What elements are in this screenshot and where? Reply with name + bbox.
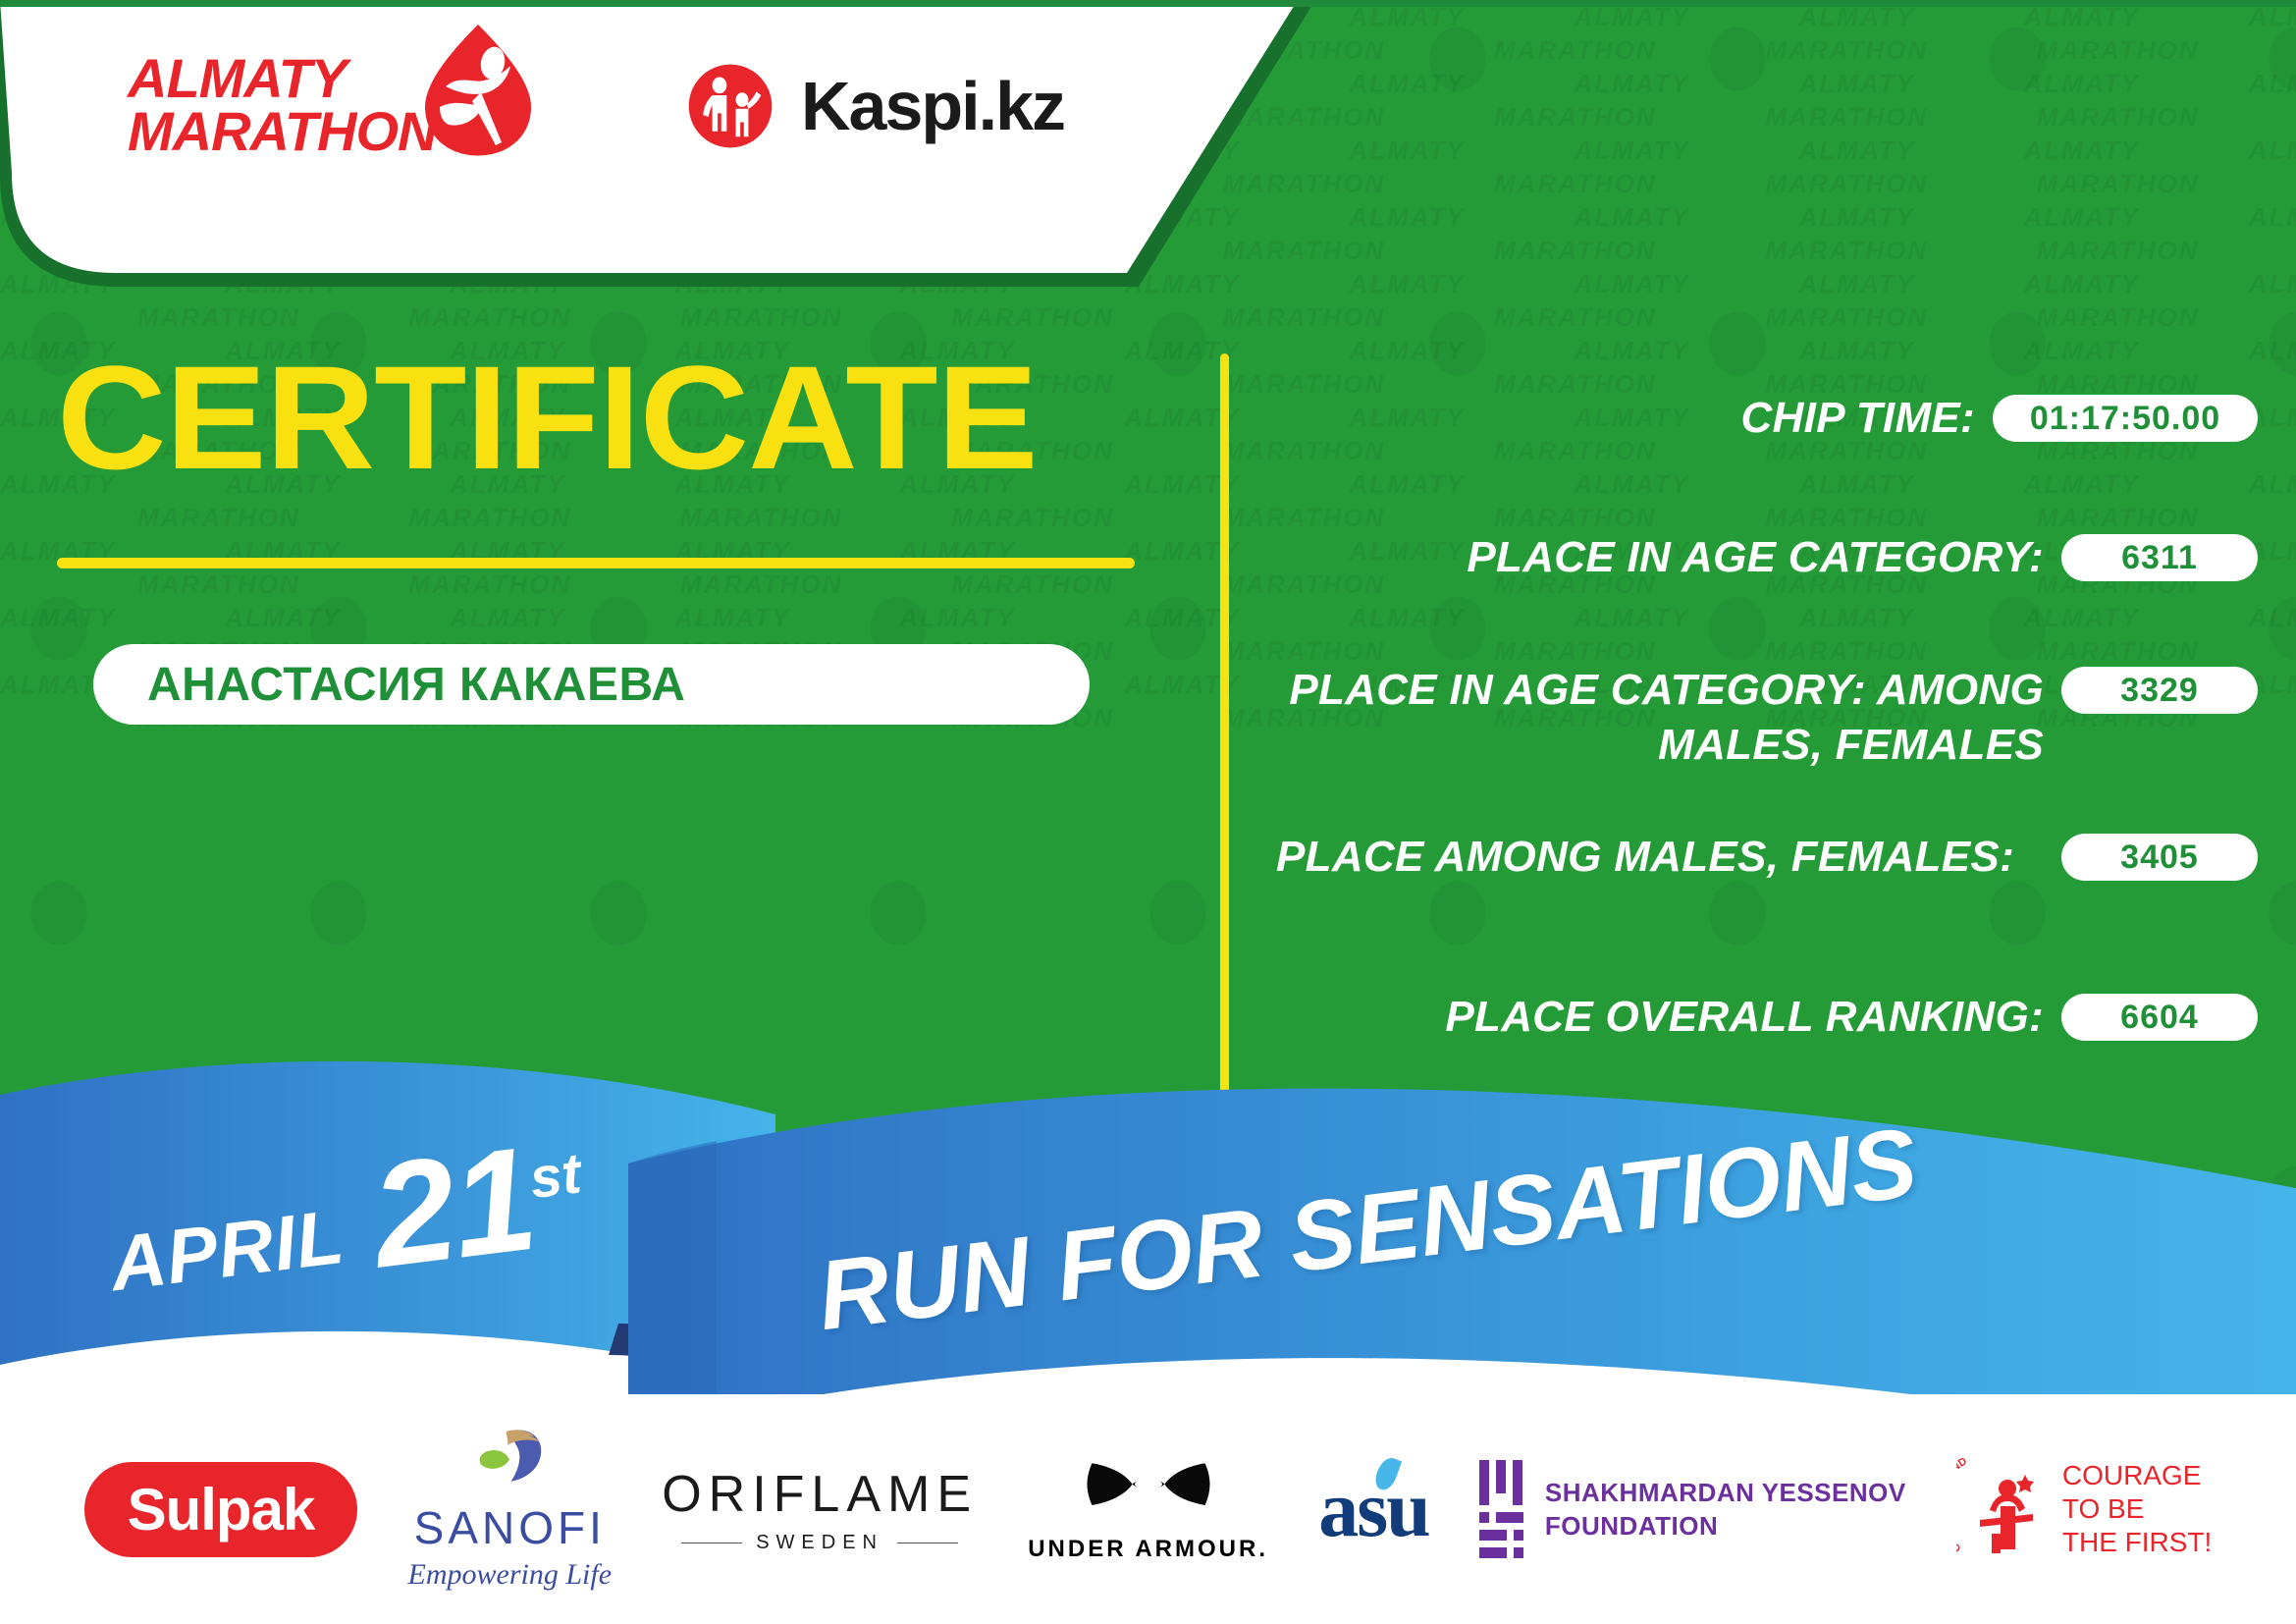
place-age-category-gender-label: PLACE IN AGE CATEGORY: AMONG MALES, FEMA…: [1276, 663, 2061, 773]
certificate-card: ALMATY ALMATY ALMATY ALMATY ALMATY ALMAT…: [0, 0, 2296, 1624]
sponsor-sanofi: SANOFI Empowering Life: [408, 1427, 613, 1592]
result-row: PLACE IN AGE CATEGORY: 6311: [1276, 530, 2258, 585]
result-row: PLACE IN AGE CATEGORY: AMONG MALES, FEMA…: [1276, 663, 2258, 773]
oriflame-rule-left: [681, 1543, 742, 1543]
courage-arc-and-figure: CORPORATE FUND: [1956, 1455, 2051, 1563]
chip-time-label: CHIP TIME:: [1276, 391, 1993, 446]
column-divider: [1220, 353, 1229, 1095]
yessenov-mark-icon: [1479, 1460, 1523, 1558]
participant-name-field: АНАСТАСИЯ КАКАЕВА: [93, 644, 1090, 725]
sanofi-wordmark: SANOFI: [414, 1501, 606, 1554]
sponsor-yessenov-foundation: SHAKHMARDAN YESSENOV FOUNDATION: [1479, 1460, 1906, 1558]
almaty-marathon-line2: MARATHON: [128, 105, 436, 158]
yessenov-wordmark: SHAKHMARDAN YESSENOV FOUNDATION: [1545, 1476, 1906, 1543]
sponsor-oriflame: ORIFLAME SWEDEN: [662, 1465, 978, 1554]
sulpak-wordmark: Sulpak: [84, 1462, 358, 1557]
page-title: CERTIFICATE: [57, 344, 1038, 491]
place-age-category-value: 6311: [2061, 534, 2258, 581]
title-underline: [57, 558, 1135, 568]
results-column: CHIP TIME: 01:17:50.00 PLACE IN AGE CATE…: [1276, 0, 2296, 1227]
yessenov-line2: FOUNDATION: [1545, 1511, 1718, 1541]
oriflame-sub-text: SWEDEN: [756, 1532, 883, 1554]
place-among-gender-value: 3405: [2061, 834, 2258, 881]
place-overall-value: 6604: [2061, 994, 2258, 1041]
runner-drop-icon: [404, 16, 552, 163]
under-armour-icon: [1084, 1455, 1213, 1528]
courage-line3: THE FIRST!: [2062, 1527, 2212, 1557]
sanofi-mark-icon: [467, 1427, 552, 1501]
place-overall-label: PLACE OVERALL RANKING:: [1276, 990, 2061, 1045]
courage-line1: COURAGE: [2062, 1460, 2202, 1490]
result-row: CHIP TIME: 01:17:50.00: [1276, 391, 2258, 446]
oriflame-wordmark: ORIFLAME: [662, 1465, 978, 1524]
almaty-marathon-logo: ALMATY MARATHON: [128, 47, 552, 163]
kaspi-wordmark: Kaspi.kz: [801, 67, 1064, 145]
asu-wordmark: asu: [1318, 1463, 1429, 1555]
place-age-category-gender-value: 3329: [2061, 667, 2258, 714]
participant-name-value: АНАСТАСИЯ КАКАЕВА: [147, 658, 685, 712]
kaspi-logo: Kaspi.kz: [685, 61, 1064, 151]
oriflame-sub: SWEDEN: [681, 1532, 958, 1554]
asu-wordmark-text: asu: [1318, 1464, 1429, 1553]
oriflame-rule-right: [897, 1543, 958, 1543]
sponsor-under-armour: UNDER ARMOUR.: [1028, 1455, 1268, 1563]
place-age-category-label: PLACE IN AGE CATEGORY:: [1276, 530, 2061, 585]
place-among-gender-label: PLACE AMONG MALES, FEMALES:: [1276, 830, 2061, 885]
sponsor-asu: asu: [1318, 1463, 1429, 1555]
sponsor-bar: Sulpak SANOFI Empowering Life ORIFLAME S…: [0, 1394, 2296, 1624]
top-green-strip: [0, 0, 2296, 7]
svg-text:CORPORATE FUND: CORPORATE FUND: [1956, 1455, 1969, 1554]
courage-wordmark: COURAGE TO BE THE FIRST!: [2062, 1459, 2212, 1559]
courage-runner-icon: CORPORATE FUND: [1956, 1455, 2051, 1565]
result-row: PLACE OVERALL RANKING: 6604: [1276, 990, 2258, 1045]
result-row: PLACE AMONG MALES, FEMALES: 3405: [1276, 830, 2258, 885]
sponsor-sulpak: Sulpak: [84, 1462, 358, 1557]
sponsor-courage-to-be-the-first: CORPORATE FUND COURAGE TO BE THE FIRST!: [1956, 1455, 2212, 1563]
sanofi-tagline: Empowering Life: [408, 1558, 613, 1592]
yessenov-line1: SHAKHMARDAN YESSENOV: [1545, 1478, 1906, 1507]
almaty-marathon-line1: ALMATY: [128, 52, 347, 105]
courage-line2: TO BE: [2062, 1493, 2145, 1524]
chip-time-value: 01:17:50.00: [1993, 395, 2258, 442]
under-armour-wordmark: UNDER ARMOUR.: [1028, 1536, 1268, 1563]
kaspi-people-circle-icon: [685, 61, 775, 151]
